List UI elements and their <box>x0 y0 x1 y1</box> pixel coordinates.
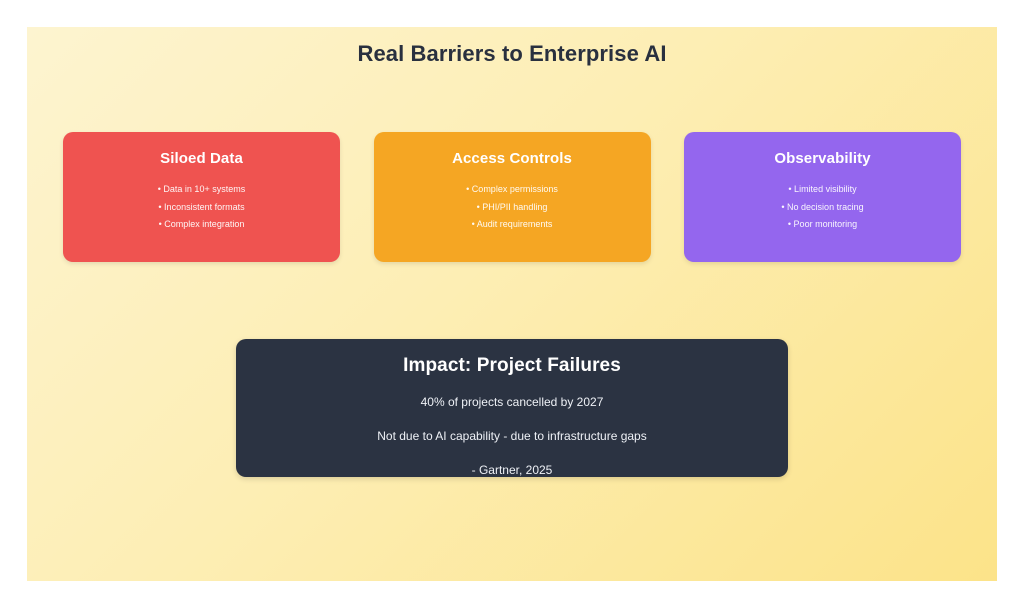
barrier-card-access-controls[interactable]: Access Controls • Complex permissions • … <box>374 132 651 262</box>
barrier-card-siloed-data[interactable]: Siloed Data • Data in 10+ systems • Inco… <box>63 132 340 262</box>
barrier-card-observability[interactable]: Observability • Limited visibility • No … <box>684 132 961 262</box>
barrier-card-bullet: • No decision tracing <box>698 199 947 217</box>
impact-title: Impact: Project Failures <box>236 355 788 377</box>
barrier-card-title: Observability <box>698 150 947 167</box>
impact-explanation: Not due to AI capability - due to infras… <box>236 429 788 443</box>
page-title: Real Barriers to Enterprise AI <box>27 41 997 67</box>
slide-canvas: Real Barriers to Enterprise AI Siloed Da… <box>27 27 997 581</box>
barrier-card-bullet-list: • Data in 10+ systems • Inconsistent for… <box>77 181 326 234</box>
barrier-card-bullet-list: • Limited visibility • No decision traci… <box>698 181 947 234</box>
barrier-card-bullet: • Inconsistent formats <box>77 199 326 217</box>
barrier-card-bullet: • Audit requirements <box>388 216 637 234</box>
barrier-card-bullet: • Data in 10+ systems <box>77 181 326 199</box>
barrier-card-bullet: • Poor monitoring <box>698 216 947 234</box>
barrier-card-bullet: • Complex integration <box>77 216 326 234</box>
barrier-card-bullet: • Limited visibility <box>698 181 947 199</box>
barrier-card-title: Access Controls <box>388 150 637 167</box>
barrier-cards-row: Siloed Data • Data in 10+ systems • Inco… <box>63 132 961 262</box>
barrier-card-title: Siloed Data <box>77 150 326 167</box>
barrier-card-bullet: • Complex permissions <box>388 181 637 199</box>
impact-attribution: - Gartner, 2025 <box>236 463 788 477</box>
impact-callout-box: Impact: Project Failures 40% of projects… <box>236 339 788 477</box>
barrier-card-bullet: • PHI/PII handling <box>388 199 637 217</box>
barrier-card-bullet-list: • Complex permissions • PHI/PII handling… <box>388 181 637 234</box>
impact-statistic: 40% of projects cancelled by 2027 <box>236 395 788 409</box>
